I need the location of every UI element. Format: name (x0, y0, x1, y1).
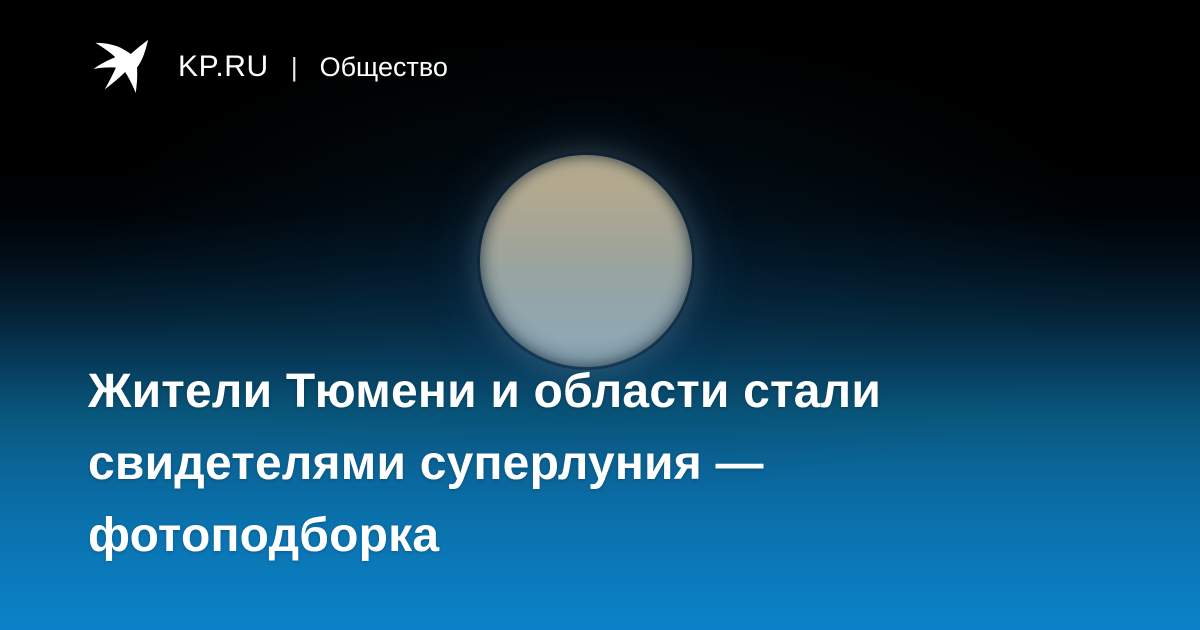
article-share-card: KP.RU | Общество Жители Тюмени и области… (0, 0, 1200, 630)
rubric-label[interactable]: Общество (320, 52, 448, 83)
moon-photo (480, 155, 692, 367)
site-header: KP.RU | Общество (88, 36, 448, 98)
headline-line-1: Жители Тюмени и области стали (88, 356, 1088, 428)
headline-line-2: свидетелями суперлуния — (88, 428, 1088, 500)
headline-line-3: фотоподборка (88, 500, 1088, 572)
swallow-bird-logo-icon[interactable] (88, 36, 150, 98)
moon-disc (480, 155, 692, 367)
header-separator: | (291, 52, 298, 83)
brand-name[interactable]: KP.RU (178, 50, 269, 84)
headline: Жители Тюмени и области стали свидетелям… (88, 356, 1088, 572)
